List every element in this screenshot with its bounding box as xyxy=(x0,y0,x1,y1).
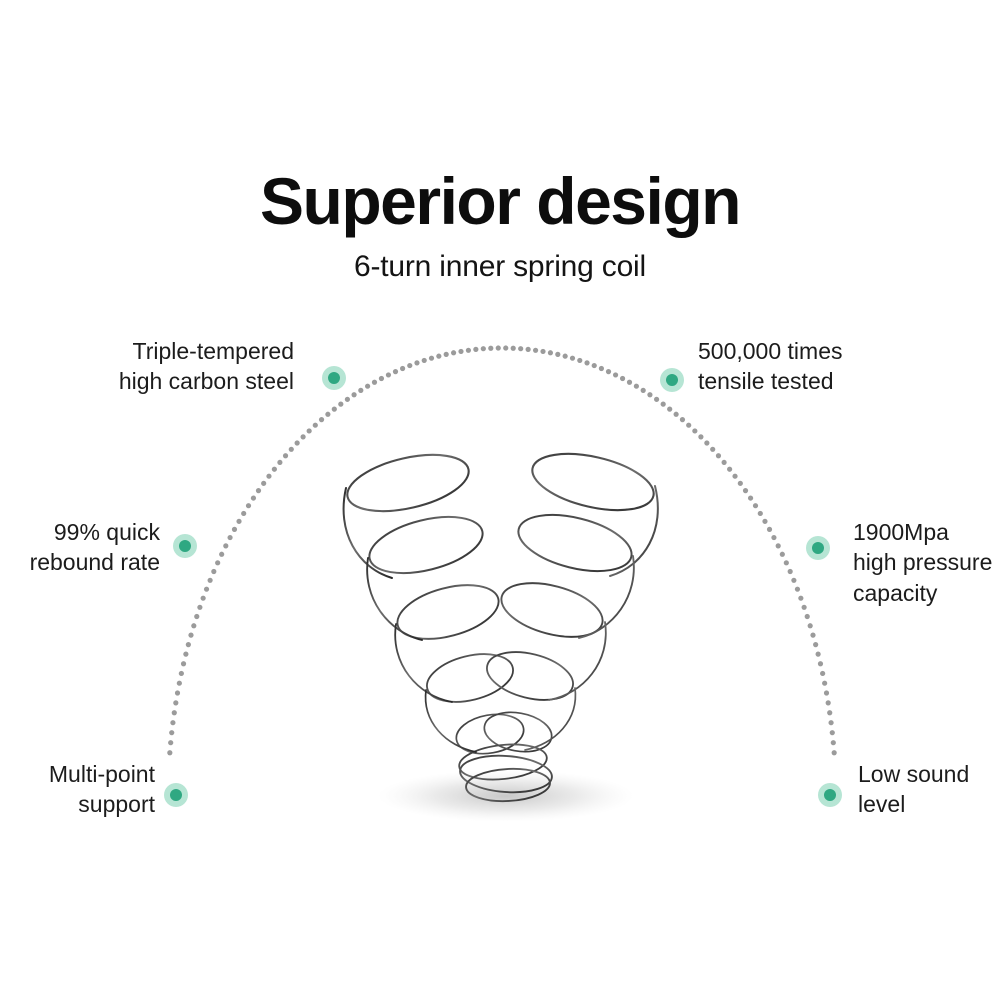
arc-dot xyxy=(175,690,180,695)
spring-shadow xyxy=(378,770,634,822)
arc-dot xyxy=(634,384,639,389)
arc-dot xyxy=(179,671,184,676)
arc-dot xyxy=(548,350,553,355)
arc-dot xyxy=(338,402,343,407)
arc-dot xyxy=(732,474,737,479)
marker-halo xyxy=(173,534,197,558)
arc-dot xyxy=(325,412,330,417)
arc-dot xyxy=(824,690,829,695)
feature-marker-pressure-capacity[interactable] xyxy=(806,536,830,560)
arc-dot xyxy=(215,560,220,565)
arc-dot xyxy=(826,700,831,705)
arc-dot xyxy=(780,552,785,557)
arc-dot xyxy=(365,384,370,389)
infographic-canvas: Superior design 6-turn inner spring coil xyxy=(0,0,1000,1000)
arc-dot xyxy=(832,750,837,755)
arc-dot xyxy=(599,366,604,371)
arc-dot xyxy=(481,346,486,351)
arc-dot xyxy=(743,488,748,493)
arc-dot xyxy=(223,543,228,548)
arc-dot xyxy=(722,460,727,465)
arc-dot xyxy=(805,614,810,619)
arc-dot xyxy=(436,354,441,359)
arc-dot xyxy=(289,447,294,452)
arc-dot xyxy=(261,481,266,486)
feature-marker-tensile-tested[interactable] xyxy=(660,368,684,392)
arc-dot xyxy=(266,474,271,479)
arc-dot xyxy=(698,434,703,439)
arc-dot xyxy=(451,350,456,355)
arc-dot xyxy=(828,720,833,725)
arc-dot xyxy=(771,535,776,540)
arc-dot xyxy=(201,596,206,601)
arc-dot xyxy=(170,720,175,725)
arc-dot xyxy=(372,380,377,385)
arc-dot xyxy=(177,681,182,686)
arc-dot xyxy=(667,407,672,412)
arc-dot xyxy=(753,503,758,508)
feature-marker-multi-point-support[interactable] xyxy=(164,783,188,807)
arc-dot xyxy=(540,349,545,354)
arc-dot xyxy=(795,587,800,592)
arc-dot xyxy=(710,447,715,452)
marker-halo xyxy=(660,368,684,392)
page-subtitle: 6-turn inner spring coil xyxy=(0,250,1000,284)
arc-dot xyxy=(232,527,237,532)
feature-label-pressure-capacity: 1900Mpa high pressure capacity xyxy=(853,517,992,608)
arc-dot xyxy=(379,376,384,381)
arc-dot xyxy=(488,346,493,351)
arc-dot xyxy=(748,495,753,500)
arc-dot xyxy=(208,578,213,583)
arc-dot xyxy=(422,358,427,363)
arc-dot xyxy=(307,428,312,433)
marker-core xyxy=(824,789,836,801)
arc-dot xyxy=(592,363,597,368)
marker-core xyxy=(812,542,824,554)
arc-dot xyxy=(577,358,582,363)
arc-dot xyxy=(674,412,679,417)
arc-dot xyxy=(738,481,743,486)
arc-dot xyxy=(283,453,288,458)
feature-marker-rebound-rate[interactable] xyxy=(173,534,197,558)
arc-dot xyxy=(219,552,224,557)
arc-dot xyxy=(802,605,807,610)
arc-dot xyxy=(680,417,685,422)
arc-dot xyxy=(606,369,611,374)
arc-dot xyxy=(776,543,781,548)
arc-dot xyxy=(172,710,177,715)
spring-wire-turns xyxy=(342,444,659,803)
arc-dot xyxy=(716,453,721,458)
arc-dot xyxy=(277,460,282,465)
spring-coil-svg xyxy=(330,440,675,830)
arc-dot xyxy=(186,642,191,647)
arc-dot xyxy=(168,740,173,745)
arc-dot xyxy=(169,730,174,735)
arc-dot xyxy=(191,623,196,628)
feature-marker-triple-tempered[interactable] xyxy=(322,366,346,390)
arc-dot xyxy=(827,710,832,715)
arc-dot xyxy=(767,527,772,532)
arc-dot xyxy=(620,376,625,381)
arc-dot xyxy=(503,345,508,350)
heading-block: Superior design 6-turn inner spring coil xyxy=(0,168,1000,284)
marker-halo xyxy=(164,783,188,807)
feature-label-tensile-tested: 500,000 times tensile tested xyxy=(698,336,842,397)
marker-core xyxy=(170,789,182,801)
arc-dot xyxy=(313,423,318,428)
arc-dot xyxy=(641,388,646,393)
arc-dot xyxy=(704,440,709,445)
arc-dot xyxy=(511,346,516,351)
arc-dot xyxy=(227,535,232,540)
arc-dot xyxy=(563,354,568,359)
arc-dot xyxy=(295,440,300,445)
arc-dot xyxy=(358,388,363,393)
arc-dot xyxy=(798,596,803,601)
arc-dot xyxy=(167,750,172,755)
arc-dot xyxy=(570,356,575,361)
marker-core xyxy=(328,372,340,384)
arc-dot xyxy=(173,700,178,705)
arc-dot xyxy=(584,360,589,365)
arc-dot xyxy=(181,661,186,666)
arc-dot xyxy=(830,730,835,735)
arc-dot xyxy=(251,495,256,500)
marker-core xyxy=(666,374,678,386)
arc-dot xyxy=(386,372,391,377)
arc-dot xyxy=(647,392,652,397)
arc-dot xyxy=(762,519,767,524)
page-title: Superior design xyxy=(0,168,1000,234)
arc-dot xyxy=(301,434,306,439)
arc-dot xyxy=(613,372,618,377)
marker-halo xyxy=(806,536,830,560)
arc-dot xyxy=(400,366,405,371)
arc-dot xyxy=(393,369,398,374)
arc-dot xyxy=(758,511,763,516)
arc-dot xyxy=(692,428,697,433)
arc-dot xyxy=(555,352,560,357)
arc-dot xyxy=(466,348,471,353)
arc-dot xyxy=(791,578,796,583)
feature-label-rebound-rate: 99% quick rebound rate xyxy=(30,517,160,578)
feature-label-triple-tempered: Triple-tempered high carbon steel xyxy=(119,336,294,397)
arc-dot xyxy=(246,503,251,508)
arc-dot xyxy=(272,467,277,472)
arc-dot xyxy=(429,356,434,361)
feature-label-low-sound-level: Low sound level xyxy=(858,759,969,820)
arc-dot xyxy=(810,633,815,638)
arc-dot xyxy=(831,740,836,745)
arc-dot xyxy=(820,671,825,676)
arc-dot xyxy=(788,569,793,574)
spring-coil-image xyxy=(330,440,675,830)
arc-dot xyxy=(661,402,666,407)
arc-dot xyxy=(458,349,463,354)
arc-dot xyxy=(822,681,827,686)
marker-core xyxy=(179,540,191,552)
arc-dot xyxy=(256,488,261,493)
arc-dot xyxy=(813,642,818,647)
marker-halo xyxy=(818,783,842,807)
arc-dot xyxy=(332,407,337,412)
arc-dot xyxy=(241,511,246,516)
arc-dot xyxy=(236,519,241,524)
marker-halo xyxy=(322,366,346,390)
feature-marker-low-sound-level[interactable] xyxy=(818,783,842,807)
arc-dot xyxy=(496,345,501,350)
arc-dot xyxy=(444,352,449,357)
arc-dot xyxy=(204,587,209,592)
arc-dot xyxy=(473,347,478,352)
arc-dot xyxy=(351,392,356,397)
arc-dot xyxy=(654,397,659,402)
arc-dot xyxy=(518,346,523,351)
arc-dot xyxy=(319,417,324,422)
arc-dot xyxy=(211,569,216,574)
arc-dot xyxy=(188,633,193,638)
arc-dot xyxy=(686,423,691,428)
arc-dot xyxy=(194,614,199,619)
arc-dot xyxy=(183,652,188,657)
arc-dot xyxy=(818,661,823,666)
arc-dot xyxy=(414,360,419,365)
arc-dot xyxy=(407,363,412,368)
feature-label-multi-point-support: Multi-point support xyxy=(49,759,155,820)
arc-dot xyxy=(627,380,632,385)
arc-dot xyxy=(808,623,813,628)
arc-dot xyxy=(526,347,531,352)
arc-dot xyxy=(533,348,538,353)
arc-dot xyxy=(345,397,350,402)
arc-dot xyxy=(816,652,821,657)
arc-dot xyxy=(197,605,202,610)
arc-dot xyxy=(727,467,732,472)
arc-dot xyxy=(784,560,789,565)
